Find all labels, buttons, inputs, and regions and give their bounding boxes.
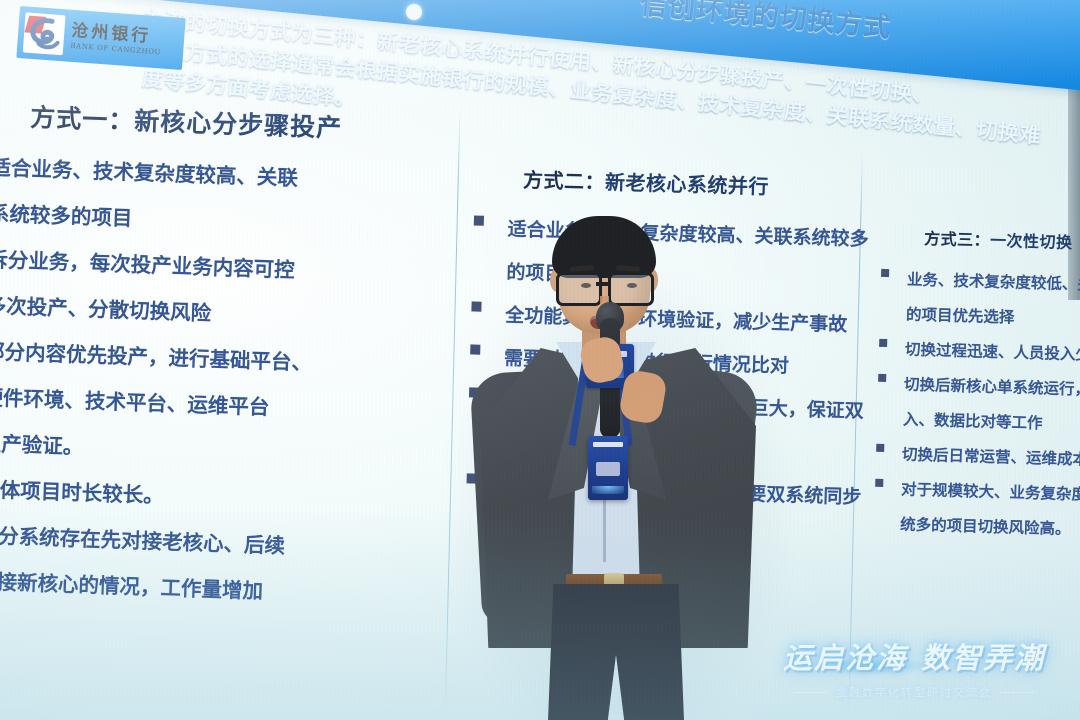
bullet-square-icon (876, 443, 884, 451)
speaker-hair (552, 216, 656, 278)
bank-logo-mark-icon (23, 12, 66, 55)
bullet-text: 对于规模较大、业务复杂度高、关联系统多的项目切换风险高。 (900, 473, 1080, 551)
speaker-figure (470, 222, 770, 720)
column-three-key: 方式三： (924, 231, 990, 250)
column-two-key: 方式二： (523, 170, 606, 194)
bullet-square-icon (881, 268, 889, 276)
column-three-value: 一次性切换 (990, 233, 1073, 252)
lens-left (556, 272, 602, 306)
badge-header-band (593, 442, 623, 447)
badge-glow (592, 486, 624, 494)
list-item: 切换后新核心单系统运行，无需二次投入、数据比对等工作 (877, 367, 1080, 445)
lens-right (608, 272, 654, 306)
conference-badge (588, 436, 628, 500)
slide-column-one: 方式一：新核心分步骤投产 适合业务、技术复杂度较高、关联 系统较多的项目 拆分业… (0, 96, 451, 622)
bullet-text: 业务、技术复杂度较低、关联系统较少的项目优先选择 (905, 263, 1080, 341)
bullet-square-icon (879, 338, 887, 346)
bank-logo-text: 沧州银行 BANK OF CANGZHOU (70, 22, 163, 56)
slide-column-three: 方式三：一次性切换 业务、技术复杂度较低、关联系统较少的项目优先选择 切换过程迅… (874, 224, 1080, 550)
speaker-trousers (548, 584, 684, 720)
logo-blue-glyph (26, 17, 62, 51)
bullet-square-icon (875, 478, 883, 486)
column-one-bullets: 适合业务、技术复杂度较高、关联 系统较多的项目 拆分业务，每次投产业务内容可控 … (0, 146, 449, 620)
column-three-heading: 方式三：一次性切换 (924, 225, 1080, 256)
column-one-value: 新核心分步骤投产 (134, 107, 343, 142)
column-three-bullets: 业务、技术复杂度较低、关联系统较少的项目优先选择 切换过程迅速、人员投入少 切换… (874, 262, 1080, 550)
badge-body (596, 462, 620, 476)
bullet-square-icon (878, 373, 886, 381)
bullet-text: 切换后新核心单系统运行，无需二次投入、数据比对等工作 (903, 368, 1080, 446)
slide-banner-text: 主流的切换方式为三种：新老核心系统并行使用、新核心分步骤投产、一次性切换、 切换… (150, 4, 1080, 94)
screenshot-stage: 方式一：新核心分步骤投产 适合业务、技术复杂度较高、关联 系统较多的项目 拆分业… (0, 0, 1080, 720)
watermark-glow (810, 658, 930, 674)
column-one-key: 方式一： (30, 104, 135, 136)
column-two-value: 新老核心系统并行 (605, 172, 770, 199)
list-item: 业务、技术复杂度较低、关联系统较少的项目优先选择 (879, 262, 1080, 340)
list-item: 对于规模较大、业务复杂度高、关联系统多的项目切换风险高。 (874, 472, 1080, 550)
